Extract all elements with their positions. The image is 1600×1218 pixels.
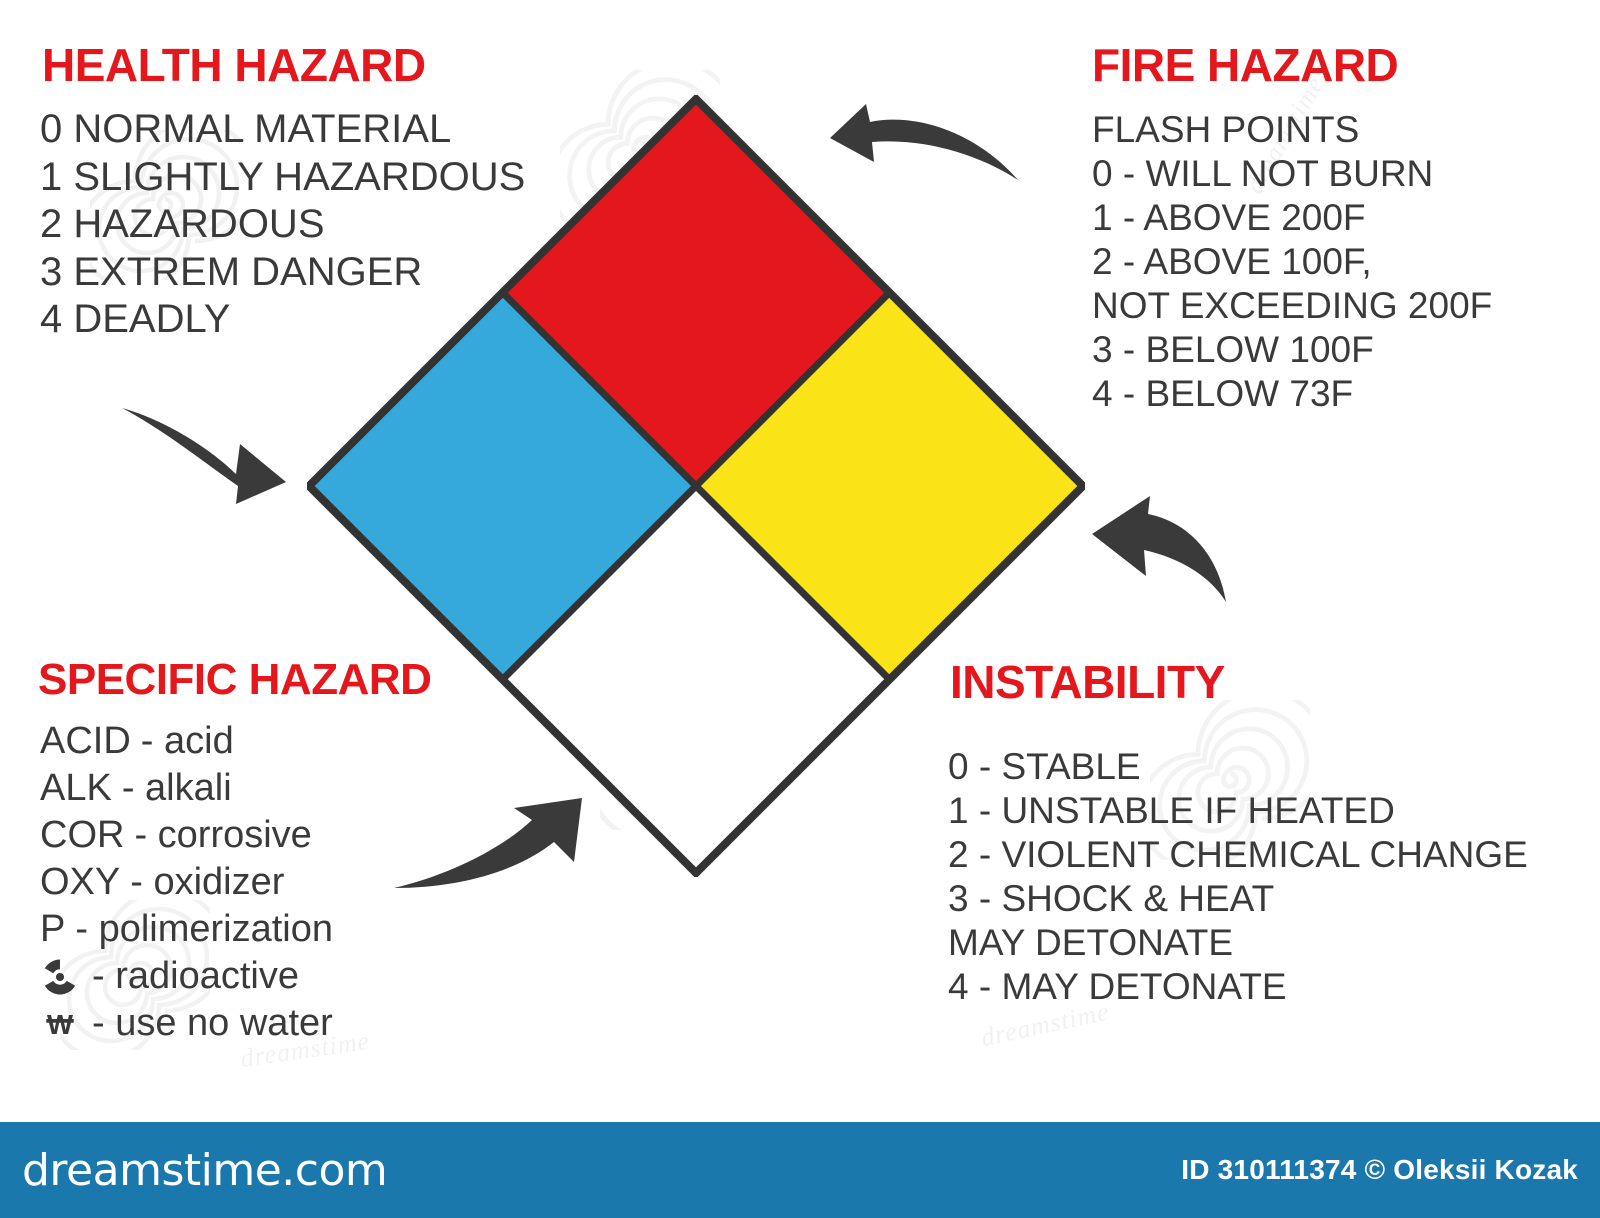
specific-hazard-item: - radioactive <box>40 953 333 1000</box>
specific-hazard-code: OXY <box>40 860 120 905</box>
arrow-to-specific <box>392 792 584 890</box>
fire-hazard-item: 3 - BELOW 100F <box>1092 328 1492 372</box>
specific-hazard-desc: - use no water <box>92 1001 333 1046</box>
fire-hazard-item: 4 - BELOW 73F <box>1092 372 1492 416</box>
instability-item: MAY DETONATE <box>948 921 1528 965</box>
specific-hazard-item: W - use no water <box>40 1000 333 1047</box>
instability-item: 1 - UNSTABLE IF HEATED <box>948 789 1528 833</box>
instability-title: INSTABILITY <box>950 655 1225 709</box>
image-credit: ID 310111374 © Oleksii Kozak <box>1181 1154 1578 1186</box>
arrow-to-instability <box>1058 484 1228 604</box>
dreamstime-logo[interactable]: dreamstime.com <box>22 1145 387 1196</box>
instability-item: 2 - VIOLENT CHEMICAL CHANGE <box>948 833 1528 877</box>
instability-list: 0 - STABLE 1 - UNSTABLE IF HEATED 2 - VI… <box>948 745 1528 1009</box>
instability-item: 0 - STABLE <box>948 745 1528 789</box>
specific-hazard-item: P - polimerization <box>40 906 333 953</box>
health-hazard-item: 0 NORMAL MATERIAL <box>40 106 525 154</box>
specific-hazard-item: COR - corrosive <box>40 812 333 859</box>
fire-hazard-title: FIRE HAZARD <box>1092 38 1398 92</box>
health-hazard-item: 3 EXTREM DANGER <box>40 249 525 297</box>
fire-hazard-item: 0 - WILL NOT BURN <box>1092 152 1492 196</box>
specific-hazard-title: SPECIFIC HAZARD <box>38 655 431 705</box>
radioactive-trefoil-icon <box>40 957 86 997</box>
specific-hazard-code: P <box>40 907 65 952</box>
fire-hazard-item: 2 - ABOVE 100F, <box>1092 240 1492 284</box>
health-hazard-item: 2 HAZARDOUS <box>40 201 525 249</box>
health-hazard-list: 0 NORMAL MATERIAL 1 SLIGHTLY HAZARDOUS 2… <box>40 106 525 344</box>
fire-hazard-item: 1 - ABOVE 200F <box>1092 196 1492 240</box>
instability-item: 3 - SHOCK & HEAT <box>948 877 1528 921</box>
specific-hazard-item: OXY - oxidizer <box>40 859 333 906</box>
specific-hazard-desc: - acid <box>141 719 234 764</box>
specific-hazard-item: ALK - alkali <box>40 765 333 812</box>
specific-hazard-desc: - polimerization <box>75 907 333 952</box>
specific-hazard-desc: - corrosive <box>134 813 311 858</box>
arrow-to-fire <box>808 104 1020 186</box>
specific-hazard-item: ACID - acid <box>40 718 333 765</box>
specific-hazard-desc: - oxidizer <box>130 860 284 905</box>
specific-hazard-code: ACID <box>40 719 131 764</box>
stock-photo-footer: dreamstime.com ID 310111374 © Oleksii Ko… <box>0 1122 1600 1218</box>
instability-item: 4 - MAY DETONATE <box>948 965 1528 1009</box>
specific-hazard-code: ALK <box>40 766 112 811</box>
specific-hazard-code: COR <box>40 813 124 858</box>
svg-text:W: W <box>47 1009 73 1040</box>
crossed-w-icon: W <box>40 1004 86 1044</box>
fire-hazard-item: FLASH POINTS <box>1092 108 1492 152</box>
specific-hazard-list: ACID - acid ALK - alkali COR - corrosive… <box>40 718 333 1047</box>
health-hazard-item: 1 SLIGHTLY HAZARDOUS <box>40 154 525 202</box>
nfpa-hazard-diagram: dreamstime dreamstime dreamstime dreamst… <box>0 0 1600 1218</box>
specific-hazard-desc: - radioactive <box>92 954 299 999</box>
health-hazard-item: 4 DEADLY <box>40 296 525 344</box>
specific-hazard-desc: - alkali <box>122 766 232 811</box>
arrow-to-health <box>120 400 288 504</box>
health-hazard-title: HEALTH HAZARD <box>42 38 426 92</box>
fire-hazard-list: FLASH POINTS 0 - WILL NOT BURN 1 - ABOVE… <box>1092 108 1492 416</box>
fire-hazard-item: NOT EXCEEDING 200F <box>1092 284 1492 328</box>
